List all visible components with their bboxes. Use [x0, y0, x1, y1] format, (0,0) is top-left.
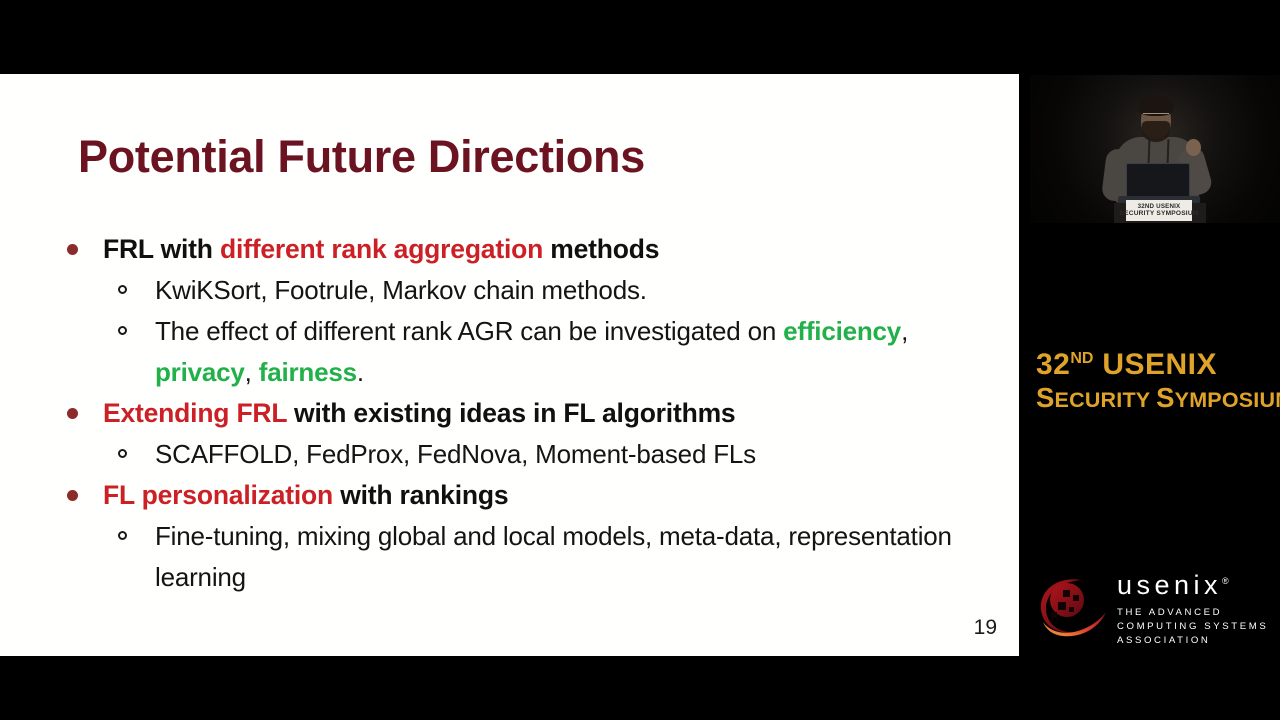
bullet-text: KwiKSort, Footrule, Markov chain methods…	[155, 275, 647, 305]
bullet-circle-icon	[118, 449, 127, 458]
bullet-text: ,	[901, 316, 908, 346]
bullet-circle-icon	[118, 326, 127, 335]
symposium-wordmark: 32ND USENIX SECURITY SYMPOSIUM	[1036, 350, 1268, 412]
bullet-dot-icon	[67, 244, 78, 255]
usenix-wordmark: usenix®	[1117, 572, 1268, 599]
symposium-s1: S	[1036, 382, 1055, 413]
usenix-word: usenix	[1117, 570, 1222, 600]
symposium-ecurity: ECURITY	[1055, 388, 1157, 412]
speaker-video-thumbnail[interactable]: 32ND USENIX SECURITY SYMPOSIUM	[1030, 75, 1280, 223]
bullet-emphasis: privacy	[155, 357, 245, 387]
trademark-icon: ®	[1222, 576, 1229, 586]
speaker-beard	[1142, 121, 1170, 142]
bullet-emphasis: fairness	[259, 357, 357, 387]
symposium-org: USENIX	[1102, 348, 1217, 381]
bullet-text: The effect of different rank AGR can be …	[155, 316, 783, 346]
bullet-emphasis: different rank aggregation	[220, 234, 543, 264]
bullet-level2: KwiKSort, Footrule, Markov chain methods…	[55, 270, 985, 311]
bullet-text: Fine-tuning, mixing global and local mod…	[155, 516, 985, 598]
bullet-emphasis: FL personalization	[103, 480, 333, 510]
bullet-text: FRL with	[103, 234, 220, 264]
symposium-ymposium: YMPOSIUM	[1175, 388, 1280, 412]
tagline-line-2: COMPUTING SYSTEMS	[1117, 620, 1268, 634]
screen: Potential Future Directions FRL with dif…	[0, 0, 1280, 720]
bullet-text: SCAFFOLD, FedProx, FedNova, Moment-based…	[155, 439, 756, 469]
usenix-association-logo: usenix® THE ADVANCED COMPUTING SYSTEMS A…	[1037, 570, 1273, 650]
bullet-circle-icon	[118, 285, 127, 294]
speaker-hand	[1186, 139, 1201, 156]
podium-sign-line2: SECURITY SYMPOSIUM	[1120, 211, 1199, 218]
speaker-lanyard	[1148, 139, 1170, 166]
page-title: Potential Future Directions	[78, 131, 645, 183]
usenix-logo-text: usenix® THE ADVANCED COMPUTING SYSTEMS A…	[1117, 572, 1268, 648]
usenix-swoosh-icon	[1037, 574, 1109, 640]
bullet-level1: Extending FRL with existing ideas in FL …	[55, 393, 985, 434]
slide-content: FRL with different rank aggregation meth…	[55, 229, 985, 598]
symposium-edition: 32	[1036, 348, 1070, 381]
tagline-line-1: THE ADVANCED	[1117, 606, 1268, 620]
bullet-dot-icon	[67, 408, 78, 419]
usenix-tagline: THE ADVANCED COMPUTING SYSTEMS ASSOCIATI…	[1117, 606, 1268, 648]
presentation-slide: Potential Future Directions FRL with dif…	[0, 74, 1019, 656]
bullet-text: with existing ideas in FL algorithms	[287, 398, 736, 428]
bullet-dot-icon	[67, 490, 78, 501]
bullet-text: .	[357, 357, 364, 387]
bullet-text: with rankings	[333, 480, 508, 510]
symposium-line-1: 32ND USENIX	[1036, 350, 1268, 381]
symposium-line-2: SECURITY SYMPOSIUM	[1036, 384, 1268, 412]
bullet-text: methods	[543, 234, 659, 264]
bullet-level2: Fine-tuning, mixing global and local mod…	[55, 516, 985, 598]
podium-sign-line1: 32ND USENIX	[1138, 204, 1181, 210]
slide-page-number: 19	[974, 616, 997, 640]
tagline-line-3: ASSOCIATION	[1117, 634, 1268, 648]
bullet-level2: SCAFFOLD, FedProx, FedNova, Moment-based…	[55, 434, 985, 475]
speaker-glasses-icon	[1143, 113, 1169, 119]
sidebar-rail: 32ND USENIX SECURITY SYMPOSIUM 32ND USEN…	[1019, 0, 1280, 720]
bullet-level1: FRL with different rank aggregation meth…	[55, 229, 985, 270]
podium-sign: 32ND USENIX SECURITY SYMPOSIUM	[1126, 200, 1192, 221]
symposium-s2: S	[1156, 382, 1175, 413]
bullet-circle-icon	[118, 531, 127, 540]
symposium-ordinal: ND	[1070, 350, 1093, 367]
laptop-screen	[1126, 163, 1190, 200]
bullet-level2: The effect of different rank AGR can be …	[55, 311, 985, 393]
bullet-level1: FL personalization with rankings	[55, 475, 985, 516]
bullet-text: ,	[245, 357, 259, 387]
bullet-emphasis: efficiency	[783, 316, 901, 346]
bullet-emphasis: Extending FRL	[103, 398, 287, 428]
